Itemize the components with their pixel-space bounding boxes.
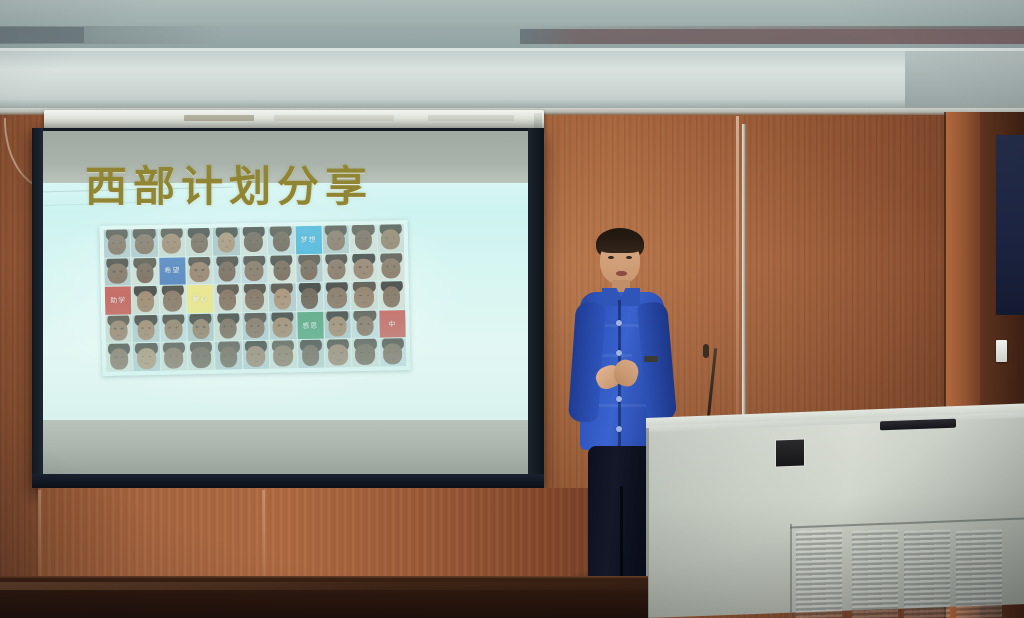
collage-face-tile: [133, 343, 160, 371]
collage-face-tile: [160, 314, 187, 342]
collage-face-tile: [378, 281, 405, 309]
screen-border-left: [32, 128, 43, 488]
collage-face-tile: [379, 339, 406, 367]
collage-face-tile: [132, 257, 159, 285]
dark-wall-panel: [996, 135, 1024, 315]
collage-face-tile: [161, 343, 188, 371]
collage-face-tile: [269, 283, 296, 311]
collage-accent-tile: 爱心: [187, 285, 214, 313]
collage-accent-text: 助学: [110, 295, 126, 305]
housing-marking: [184, 115, 254, 121]
collage-face-tile: [325, 340, 352, 368]
collage-face-tile: [268, 226, 295, 254]
lectern[interactable]: [646, 418, 1024, 618]
collage-face-tile: [215, 313, 242, 341]
collage-face-tile: [297, 340, 324, 368]
collage-face-tile: [242, 284, 269, 312]
collage-face-tile: [296, 254, 323, 282]
collage-face-tile: [350, 225, 377, 253]
collage-face-tile: [158, 228, 185, 256]
lectern-panel-seam: [790, 524, 792, 618]
lectern-vent-slats: [796, 529, 842, 618]
presenter-hair: [598, 236, 642, 253]
floor-reflection: [0, 582, 648, 590]
collage-face-tile: [106, 344, 133, 372]
shirt-button: [616, 320, 622, 326]
shirt-button: [616, 350, 622, 356]
collage-face-tile: [188, 342, 215, 370]
shirt-button: [616, 396, 622, 402]
slide-collage-mat: 梦想希望助学爱心感恩中: [100, 220, 411, 376]
collage-face-tile: [352, 310, 379, 338]
presenter-wristwatch: [644, 356, 658, 362]
collage-face-tile: [104, 229, 131, 257]
collage-face-tile: [215, 342, 242, 370]
collage-face-tile: [240, 227, 267, 255]
collage-accent-text: 感恩: [302, 320, 318, 330]
presenter-eye: [626, 256, 632, 259]
screen-border-bottom: [32, 474, 544, 488]
collage-face-tile: [132, 286, 159, 314]
collage-face-tile: [243, 341, 270, 369]
wall-seam: [736, 116, 739, 422]
collage-accent-tile: 中: [379, 310, 406, 338]
collage-accent-text: 中: [388, 319, 396, 329]
wall-seam: [38, 490, 41, 578]
collage-face-tile: [213, 227, 240, 255]
collage-face-tile: [214, 256, 241, 284]
photo-scene: 西部计划分享 梦想希望助学爱心感恩中: [0, 0, 1024, 618]
collage-accent-tile: 助学: [105, 287, 132, 315]
collage-face-tile: [378, 253, 405, 281]
ceiling-beam-right: [520, 29, 1024, 44]
collage-face-tile: [159, 286, 186, 314]
screen-surface: 西部计划分享 梦想希望助学爱心感恩中: [43, 131, 528, 474]
collage-face-tile: [186, 228, 213, 256]
collage-face-tile: [324, 311, 351, 339]
screen-unlit-bottom: [43, 420, 528, 474]
collage-accent-tile: 梦想: [295, 226, 322, 254]
microphone-head[interactable]: [703, 344, 709, 358]
slide-photo-collage: 梦想希望助学爱心感恩中: [104, 224, 407, 372]
soffit-right-return: [905, 51, 1024, 113]
collage-face-tile: [214, 284, 241, 312]
collage-accent-text: 希望: [164, 266, 180, 276]
collage-face-tile: [242, 313, 269, 341]
collage-face-tile: [241, 255, 268, 283]
lectern-control-plate[interactable]: [776, 440, 804, 467]
collage-face-tile: [186, 256, 213, 284]
housing-marking: [428, 115, 514, 121]
collage-face-tile: [269, 312, 296, 340]
collage-face-tile: [296, 283, 323, 311]
slide-title: 西部计划分享: [85, 153, 373, 214]
housing-end-cap: [534, 113, 542, 129]
collage-face-tile: [323, 254, 350, 282]
ceiling-vent-left: [0, 27, 84, 43]
collage-face-tile: [105, 315, 132, 343]
collage-accent-tile: 感恩: [297, 311, 324, 339]
collage-accent-text: 爱心: [192, 294, 208, 304]
collage-face-tile: [187, 314, 214, 342]
collage-face-tile: [352, 339, 379, 367]
projection-screen[interactable]: 西部计划分享 梦想希望助学爱心感恩中: [32, 128, 544, 488]
collage-face-tile: [104, 258, 131, 286]
collage-face-tile: [131, 229, 158, 257]
collage-accent-text: 梦想: [301, 235, 317, 245]
shirt-button: [616, 426, 622, 432]
presenter-eye: [608, 256, 614, 259]
lectern-vent-slats: [904, 529, 950, 618]
collage-face-tile: [351, 282, 378, 310]
collage-face-tile: [350, 253, 377, 281]
collage-face-tile: [270, 341, 297, 369]
wall-seam: [262, 490, 265, 578]
collage-accent-tile: 希望: [159, 257, 186, 285]
wall-switch-plate[interactable]: [996, 340, 1007, 362]
collage-face-tile: [324, 282, 351, 310]
shirt-fold: [594, 404, 650, 407]
collage-face-tile: [133, 315, 160, 343]
collage-face-tile: [268, 255, 295, 283]
lectern-vent-slats: [956, 529, 1002, 618]
screen-support-pole: [742, 124, 746, 426]
screen-border-right: [528, 128, 544, 488]
collage-face-tile: [377, 224, 404, 252]
collage-face-tile: [323, 225, 350, 253]
presenter-mouth: [616, 271, 627, 276]
lectern-vent-slats: [852, 529, 898, 618]
housing-marking: [274, 115, 394, 121]
